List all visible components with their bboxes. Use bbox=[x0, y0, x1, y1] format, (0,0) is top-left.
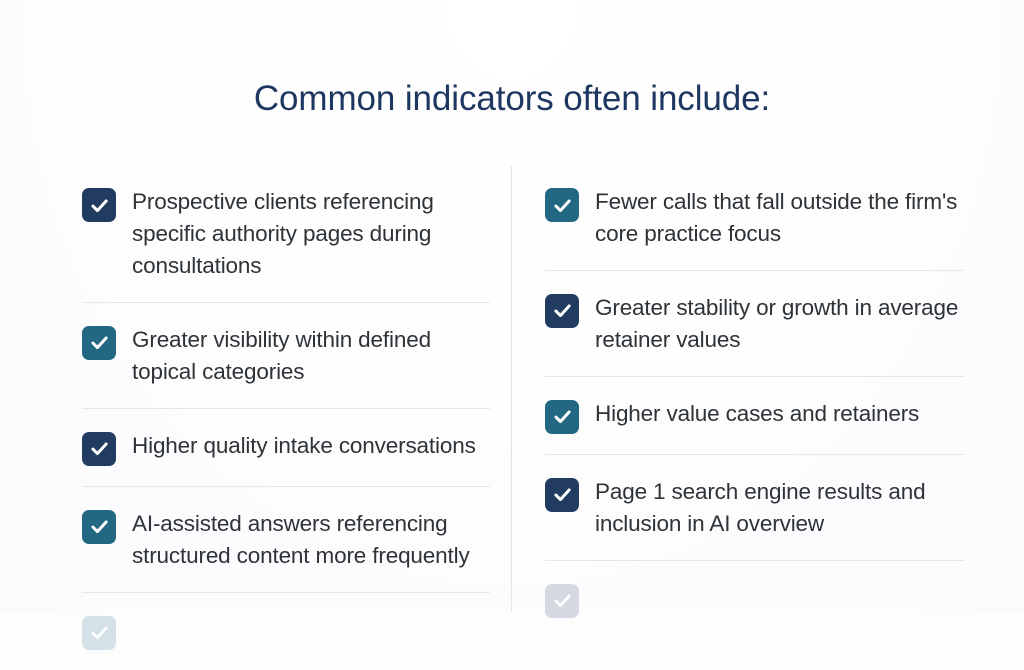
list-item[interactable]: Page 1 search engine results and inclusi… bbox=[545, 455, 964, 560]
list-item-label: AI-assisted answers referencing structur… bbox=[132, 508, 490, 572]
slide-canvas: Common indicators often include: Prospec… bbox=[0, 0, 1024, 612]
list-item[interactable]: Greater stability or growth in average r… bbox=[545, 271, 964, 376]
checkmark-icon[interactable] bbox=[545, 188, 579, 222]
list-item[interactable]: Higher quality intake conversations bbox=[82, 409, 490, 486]
list-item[interactable]: Higher value cases and retainers bbox=[545, 377, 964, 454]
list-item-label: Higher value cases and retainers bbox=[595, 398, 919, 430]
checkmark-icon[interactable] bbox=[82, 326, 116, 360]
page-title: Common indicators often include: bbox=[0, 78, 1024, 120]
checkmark-icon[interactable] bbox=[545, 584, 579, 618]
list-item[interactable]: Fewer calls that fall outside the firm's… bbox=[545, 165, 964, 270]
checkmark-icon[interactable] bbox=[82, 432, 116, 466]
checkmark-icon[interactable] bbox=[82, 510, 116, 544]
list-item-partial[interactable] bbox=[82, 593, 490, 670]
checkmark-icon[interactable] bbox=[545, 478, 579, 512]
list-item-label: Greater visibility within defined topica… bbox=[132, 324, 490, 388]
list-item-label: Prospective clients referencing specific… bbox=[132, 186, 490, 282]
checkmark-icon[interactable] bbox=[82, 188, 116, 222]
list-item[interactable]: Prospective clients referencing specific… bbox=[82, 165, 490, 302]
list-item-partial[interactable] bbox=[545, 561, 964, 638]
checkmark-icon[interactable] bbox=[82, 616, 116, 650]
left-column: Prospective clients referencing specific… bbox=[0, 165, 512, 670]
list-item[interactable]: Greater visibility within defined topica… bbox=[82, 303, 490, 408]
checkmark-icon[interactable] bbox=[545, 400, 579, 434]
list-item-label: Greater stability or growth in average r… bbox=[595, 292, 964, 356]
checkmark-icon[interactable] bbox=[545, 294, 579, 328]
indicator-columns: Prospective clients referencing specific… bbox=[0, 165, 1024, 612]
list-item-label: Higher quality intake conversations bbox=[132, 430, 476, 462]
list-item-label: Page 1 search engine results and inclusi… bbox=[595, 476, 964, 540]
right-column: Fewer calls that fall outside the firm's… bbox=[512, 165, 1024, 638]
list-item[interactable]: AI-assisted answers referencing structur… bbox=[82, 487, 490, 592]
list-item-label: Fewer calls that fall outside the firm's… bbox=[595, 186, 964, 250]
